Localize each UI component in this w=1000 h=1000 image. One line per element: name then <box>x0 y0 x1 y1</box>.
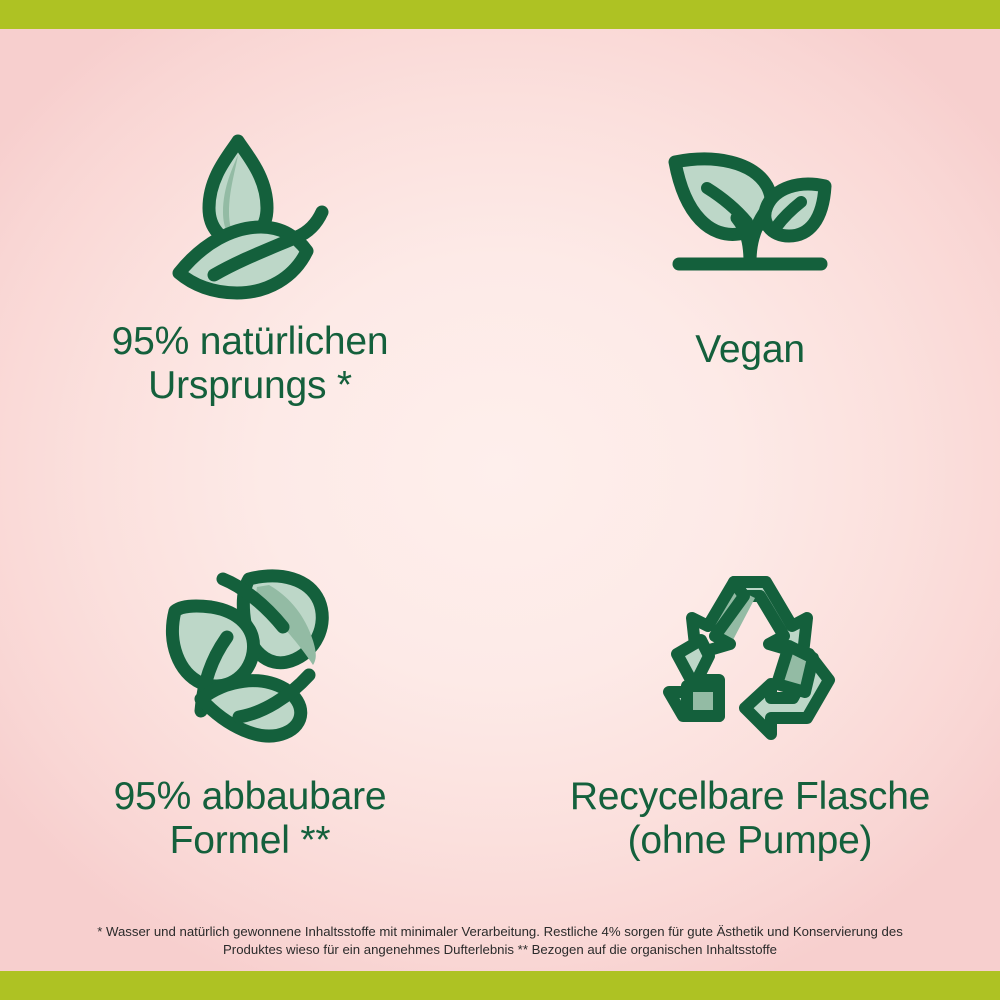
claim-recyclable-bottle: Recycelbare Flasche (ohne Pumpe) <box>500 477 1000 925</box>
claim-natural-origin: 95% natürlichen Ursprungs * <box>0 29 500 477</box>
footnote-text: * Wasser und natürlich gewonnene Inhalts… <box>60 923 940 960</box>
product-claims-poster: 95% natürlichen Ursprungs * <box>0 0 1000 1000</box>
claim-label: Recycelbare Flasche (ohne Pumpe) <box>570 775 930 863</box>
claims-grid: 95% natürlichen Ursprungs * <box>0 29 1000 924</box>
droplet-leaf-icon <box>150 115 350 300</box>
bottom-green-band <box>0 971 1000 1000</box>
claim-label: 95% natürlichen Ursprungs * <box>112 320 389 408</box>
claim-label: Vegan <box>695 328 805 372</box>
top-green-band <box>0 0 1000 29</box>
three-leaves-circle-icon <box>150 562 350 747</box>
recycle-icon <box>650 562 850 747</box>
claim-label: 95% abbaubare Formel ** <box>114 775 387 863</box>
claim-vegan: Vegan <box>500 29 1000 477</box>
sprout-icon <box>650 115 850 300</box>
claim-biodegradable: 95% abbaubare Formel ** <box>0 477 500 925</box>
